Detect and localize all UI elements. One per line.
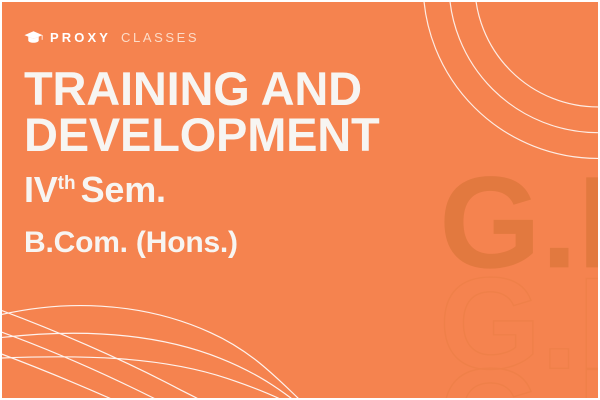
graduation-cap-icon: [24, 30, 43, 44]
wave-line-3: [2, 357, 290, 398]
brand-name-light: CLASSES: [121, 31, 199, 44]
semester-label: IVthSem.: [24, 172, 598, 208]
page-title: TRAINING AND DEVELOPMENT: [24, 66, 598, 158]
title-line-1: TRAINING AND: [24, 66, 598, 112]
watermark-letters-outline-1: G.E: [439, 250, 598, 397]
semester-word: Sem.: [81, 169, 166, 210]
wave-line-4: [2, 307, 223, 398]
watermark-letters-outline-2: G.E: [439, 341, 598, 398]
wave-line-1: [2, 306, 300, 398]
wave-line-2: [2, 333, 296, 398]
semester-number: IV: [24, 169, 58, 210]
semester-ordinal-suffix: th: [58, 173, 76, 194]
poster-content: PROXY CLASSES TRAINING AND DEVELOPMENT I…: [2, 2, 598, 258]
wave-line-6: [2, 350, 149, 398]
course-label: B.Com. (Hons.): [24, 228, 598, 258]
brand-logo: PROXY CLASSES: [24, 30, 598, 44]
title-line-2: DEVELOPMENT: [24, 112, 598, 158]
wave-line-5: [2, 329, 177, 398]
brand-name-bold: PROXY: [50, 31, 111, 44]
poster-canvas: G.E G.E G.E: [0, 0, 600, 400]
